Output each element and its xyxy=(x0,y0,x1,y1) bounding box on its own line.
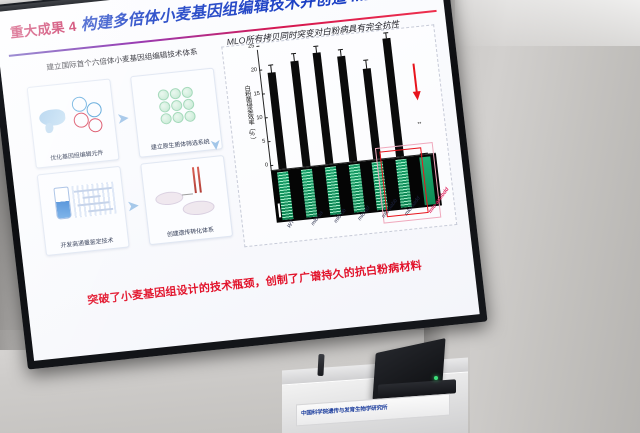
slide-bottom-banner: 突破了小麦基因组设计的技术瓶颈，创制了广谱持久的抗白粉病材料 xyxy=(55,254,455,312)
protoplast-screening-icon xyxy=(138,75,214,138)
chart-y-tick: 25 xyxy=(248,43,257,50)
chart-y-tick: 0 xyxy=(265,162,271,168)
chart-y-tick: 10 xyxy=(256,114,265,121)
arrow-down-icon: ➤ xyxy=(209,138,224,151)
chart-bar xyxy=(290,61,310,167)
chart-panel: 白粉菌侵染效率（%） 0510152025 ** xyxy=(221,24,457,247)
genetic-transformation-icon xyxy=(148,163,224,226)
chart-bar xyxy=(313,52,334,164)
lectern: 中国科学院遗传与发育生物学研究所 xyxy=(282,352,492,433)
presentation-display: 重大成果 4 构建多倍体小麦基因组编辑技术并创造 MLO突变体 建立国际首个六倍… xyxy=(0,0,488,370)
leaf-sample xyxy=(348,164,364,213)
slide-badge: 重大成果 4 xyxy=(9,19,77,41)
flow-card-4: 创建遗传转化体系 xyxy=(140,155,233,245)
chart-significance-marker: ** xyxy=(417,121,422,127)
gene-editing-components-icon xyxy=(34,86,110,149)
flow-card-3-label: 开发高通量鉴定技术 xyxy=(46,233,129,251)
microphone-2 xyxy=(334,358,339,376)
high-throughput-assay-icon xyxy=(44,174,120,237)
chart-bar xyxy=(337,56,357,162)
slide: 重大成果 4 构建多倍体小麦基因组编辑技术并创造 MLO突变体 建立国际首个六倍… xyxy=(0,0,480,361)
flow-card-1-label: 优化基因组编辑元件 xyxy=(35,146,118,164)
ceiling-light-falloff xyxy=(455,0,640,46)
display-screen: 重大成果 4 构建多倍体小麦基因组编辑技术并创造 MLO突变体 建立国际首个六倍… xyxy=(0,0,480,361)
arrow-right-icon: ➤ xyxy=(116,111,130,127)
chart-y-tick: 5 xyxy=(262,138,268,144)
leaf-sample xyxy=(301,169,317,218)
red-arrow-icon xyxy=(409,63,422,104)
arrow-left-icon: ➤ xyxy=(126,198,140,214)
lectern-nameplate-text: 中国科学院遗传与发育生物学研究所 xyxy=(301,399,446,417)
chart-bar xyxy=(362,68,380,159)
leaf-sample xyxy=(325,166,341,215)
flow-card-3: 开发高通量鉴定技术 xyxy=(37,166,130,256)
workflow-diagram: 优化基因组编辑元件 建立原生质体筛选系统 xyxy=(25,55,235,259)
flow-card-1: 优化基因组编辑元件 xyxy=(27,78,120,168)
chart-y-tick: 15 xyxy=(253,91,262,98)
chart-bar xyxy=(267,72,286,170)
photo-scene: 重大成果 4 构建多倍体小麦基因组编辑技术并创造 MLO突变体 建立国际首个六倍… xyxy=(0,0,640,433)
chart-bar xyxy=(383,38,405,157)
flow-card-4-label: 创建遗传转化体系 xyxy=(149,223,232,241)
microphone-1 xyxy=(317,354,324,376)
laptop-power-led-icon xyxy=(434,376,438,380)
chart-y-tick: 20 xyxy=(251,67,260,74)
